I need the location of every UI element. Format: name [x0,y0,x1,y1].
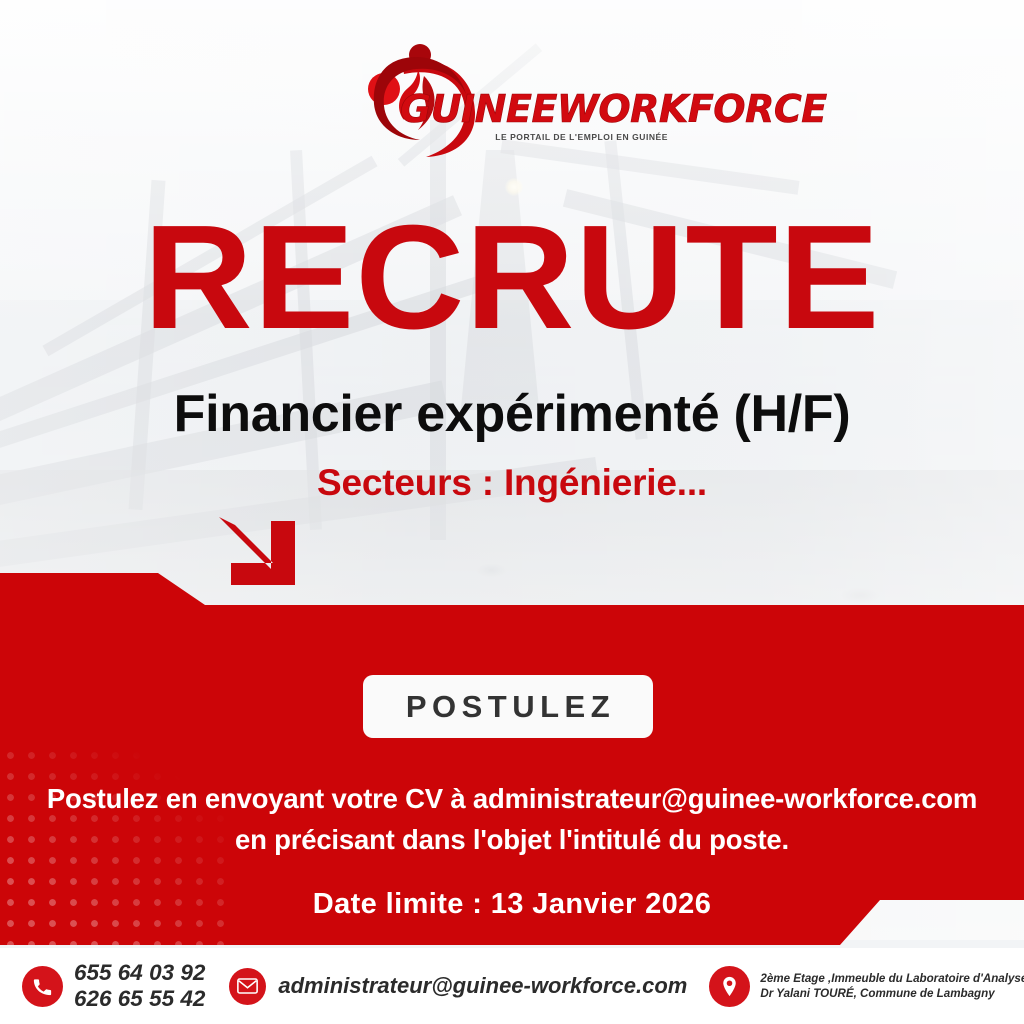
recruitment-poster: GUINEEWORKFORCE LE PORTAIL DE L'EMPLOI E… [0,0,1024,1024]
phone-number-1: 655 64 03 92 [74,960,205,986]
contact-email[interactable]: administrateur@guinee-workforce.com [229,968,687,1005]
contact-footer: 655 64 03 92 626 65 55 42 administrateur… [0,948,1024,1024]
office-address: 2ème Etage ,Immeuble du Laboratoire d'An… [760,971,1024,1001]
phone-icon [22,966,63,1007]
office-address-line1: 2ème Etage ,Immeuble du Laboratoire d'An… [760,971,1024,986]
email-address: administrateur@guinee-workforce.com [278,973,687,999]
phone-number-2: 626 65 55 42 [74,986,205,1012]
arrow-down-right-icon [213,515,301,589]
phone-numbers: 655 64 03 92 626 65 55 42 [74,960,205,1012]
apply-instructions-line1: Postulez en envoyant votre CV à administ… [0,778,1024,819]
envelope-icon [229,968,266,1005]
apply-button-label: POSTULEZ [401,689,615,725]
brand-logo-text: GUINEEWORKFORCE LE PORTAIL DE L'EMPLOI E… [400,88,672,142]
job-title: Financier expérimenté (H/F) [0,382,1024,446]
brand-logo: GUINEEWORKFORCE LE PORTAIL DE L'EMPLOI E… [0,34,1024,162]
apply-button[interactable]: POSTULEZ [363,675,653,738]
office-address-line2: Dr Yalani TOURÉ, Commune de Lambagny [760,986,1024,1001]
brand-logo-tagline: LE PORTAIL DE L'EMPLOI EN GUINÉE [400,132,672,142]
application-deadline: Date limite : 13 Janvier 2026 [0,888,1024,921]
headline-block: RECRUTE Financier expérimenté (H/F) Sect… [0,214,1024,506]
contact-phone[interactable]: 655 64 03 92 626 65 55 42 [22,960,205,1012]
apply-instructions: Postulez en envoyant votre CV à administ… [0,778,1024,860]
brand-logo-wordmark: GUINEEWORKFORCE [400,88,672,130]
map-pin-icon [709,966,750,1007]
contact-address[interactable]: 2ème Etage ,Immeuble du Laboratoire d'An… [709,966,1024,1007]
apply-instructions-line2: en précisant dans l'objet l'intitulé du … [0,819,1024,860]
page-title: RECRUTE [0,214,1024,342]
job-sectors: Secteurs : Ingénierie... [0,460,1024,506]
